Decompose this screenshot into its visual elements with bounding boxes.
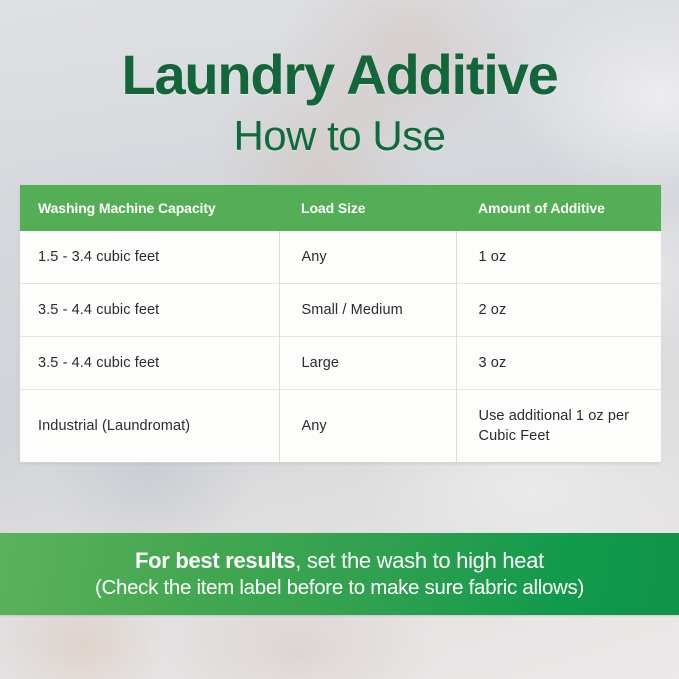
table-header: Washing Machine Capacity Load Size Amoun… xyxy=(20,185,661,231)
cell-load-size: Any xyxy=(279,231,456,284)
cell-amount: 3 oz xyxy=(456,337,661,390)
infographic-page: Laundry Additive How to Use Washing Mach… xyxy=(0,0,679,679)
table-row: 3.5 - 4.4 cubic feet Large 3 oz xyxy=(20,337,661,390)
page-subtitle: How to Use xyxy=(0,113,679,159)
usage-table-container: Washing Machine Capacity Load Size Amoun… xyxy=(19,185,660,463)
cell-load-size: Large xyxy=(279,337,456,390)
banner-bold-text: For best results xyxy=(135,548,295,573)
cell-capacity: 3.5 - 4.4 cubic feet xyxy=(20,284,279,337)
page-title: Laundry Additive xyxy=(0,46,679,105)
column-header-amount: Amount of Additive xyxy=(456,185,661,231)
cell-amount: Use additional 1 oz per Cubic Feet xyxy=(456,390,661,463)
table-row: 3.5 - 4.4 cubic feet Small / Medium 2 oz xyxy=(20,284,661,337)
table-body: 1.5 - 3.4 cubic feet Any 1 oz 3.5 - 4.4 … xyxy=(20,231,661,462)
banner-rest-text: , set the wash to high heat xyxy=(295,548,544,573)
table-row: 1.5 - 3.4 cubic feet Any 1 oz xyxy=(20,231,661,284)
best-results-banner: For best results, set the wash to high h… xyxy=(0,533,679,615)
cell-capacity: 1.5 - 3.4 cubic feet xyxy=(20,231,279,284)
usage-table: Washing Machine Capacity Load Size Amoun… xyxy=(20,185,661,462)
table-row: Industrial (Laundromat) Any Use addition… xyxy=(20,390,661,463)
column-header-capacity: Washing Machine Capacity xyxy=(20,185,279,231)
table-header-row: Washing Machine Capacity Load Size Amoun… xyxy=(20,185,661,231)
cell-load-size: Small / Medium xyxy=(279,284,456,337)
cell-amount: 2 oz xyxy=(456,284,661,337)
banner-secondary-line: (Check the item label before to make sur… xyxy=(95,576,584,600)
cell-capacity: 3.5 - 4.4 cubic feet xyxy=(20,337,279,390)
cell-amount: 1 oz xyxy=(456,231,661,284)
column-header-load-size: Load Size xyxy=(279,185,456,231)
heading-block: Laundry Additive How to Use xyxy=(0,46,679,159)
cell-load-size: Any xyxy=(279,390,456,463)
banner-primary-line: For best results, set the wash to high h… xyxy=(135,548,544,573)
cell-capacity: Industrial (Laundromat) xyxy=(20,390,279,463)
